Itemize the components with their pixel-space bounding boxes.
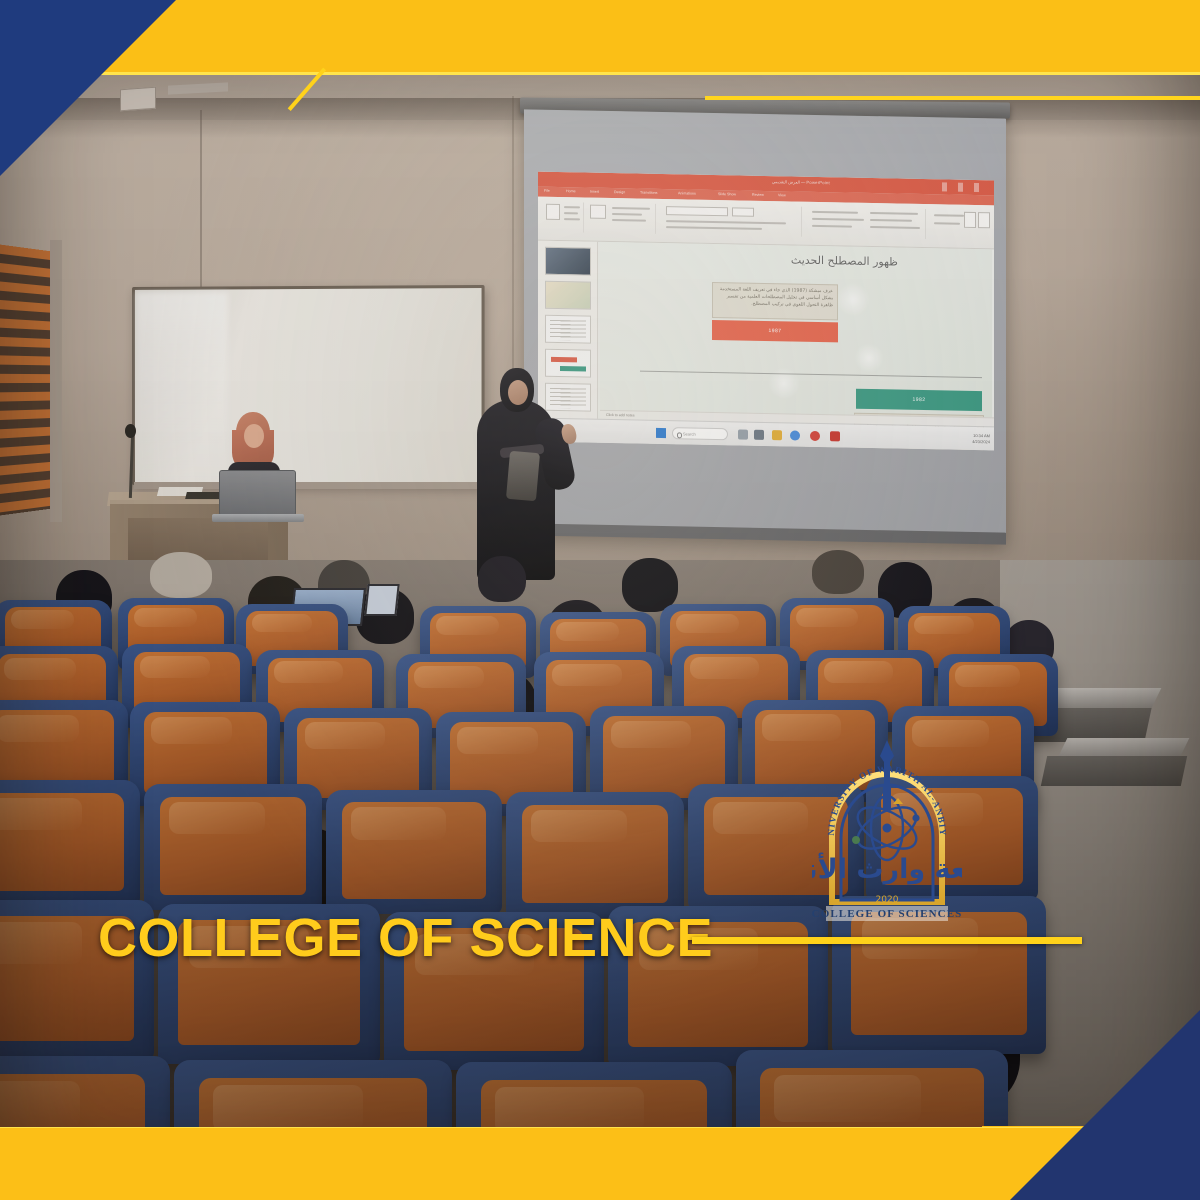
tab-review[interactable]: Review xyxy=(752,193,764,197)
crest-footer-text: COLLEGE OF SCIENCES xyxy=(812,908,962,920)
seminar-photo-card: العرض التقديمي — PowerPoint File Home In… xyxy=(0,0,1200,1200)
seat xyxy=(144,784,322,910)
ribbon-group-export[interactable] xyxy=(962,210,992,241)
paste-button[interactable] xyxy=(546,204,560,220)
microphone-head xyxy=(125,424,136,438)
presenter-bag xyxy=(506,451,540,501)
share-button[interactable] xyxy=(978,212,990,228)
clock-time: 10:34 AM xyxy=(973,433,990,438)
tab-design[interactable]: Design xyxy=(614,190,625,194)
window-title-text: العرض التقديمي — PowerPoint xyxy=(772,179,830,185)
slide-left-paragraph: عرف ميشكة (1987) الذي جاء في تعريف اللغة… xyxy=(712,282,838,320)
taskbar-clock[interactable]: 10:34 AM 4/23/2024 xyxy=(972,433,990,445)
seat xyxy=(506,792,684,918)
create-pdf-button[interactable] xyxy=(964,212,976,228)
university-crest-icon: UNIVERSITY OF WARITH AL-ANBIYA جامعة وار… xyxy=(812,732,962,928)
font-size-select[interactable] xyxy=(732,207,754,216)
tab-transitions[interactable]: Transitions xyxy=(640,191,657,195)
diagonal-accent-rule xyxy=(322,70,366,110)
ribbon-group-clipboard[interactable] xyxy=(542,202,584,233)
seat xyxy=(326,790,502,914)
slide-divider xyxy=(640,371,982,379)
tab-insert[interactable]: Insert xyxy=(590,190,599,194)
pdf-icon[interactable] xyxy=(830,431,840,441)
window-controls[interactable] xyxy=(942,182,990,192)
seated-person-face xyxy=(244,424,264,448)
crest-arc-text: UNIVERSITY OF WARITH AL-ANBIYA xyxy=(812,732,948,836)
title-underline-rule xyxy=(692,937,1082,944)
tab-file[interactable]: File xyxy=(544,189,550,193)
page-title: COLLEGE OF SCIENCE xyxy=(98,911,713,965)
audience-head xyxy=(150,552,212,598)
slide-thumbnail-4[interactable] xyxy=(545,349,591,378)
laptop-screen xyxy=(219,470,296,516)
slide-thumbnail-5[interactable] xyxy=(545,383,591,412)
slide-thumbnail-2[interactable] xyxy=(545,281,591,310)
window-blinds xyxy=(0,244,55,516)
atom-electron xyxy=(912,814,919,821)
slide-thumbnail-3[interactable] xyxy=(545,315,591,344)
ribbon-group-font[interactable] xyxy=(660,204,802,237)
tab-view[interactable]: View xyxy=(778,193,786,197)
atom-electron xyxy=(852,836,860,844)
slide-badge-1982: 1982 xyxy=(856,389,982,411)
chrome-icon[interactable] xyxy=(790,430,800,440)
tab-home[interactable]: Home xyxy=(566,189,576,193)
laptop-base xyxy=(212,514,304,522)
new-slide-button[interactable] xyxy=(590,205,606,219)
ceiling-fixture-icon xyxy=(120,87,156,112)
slide-thumbnail-1[interactable] xyxy=(545,247,591,276)
ribbon-group-slides[interactable] xyxy=(586,203,656,234)
active-slide[interactable]: ظهور المصطلح الحديث عرف ميشكة (1987) الذ… xyxy=(600,242,992,427)
slide-title: ظهور المصطلح الحديث xyxy=(791,253,898,268)
powerpoint-window: العرض التقديمي — PowerPoint File Home In… xyxy=(538,172,994,451)
whiteboard-glare xyxy=(136,292,228,480)
crest-finial-icon xyxy=(880,740,894,786)
window-frame xyxy=(50,240,62,522)
event-photograph: العرض التقديمي — PowerPoint File Home In… xyxy=(0,0,1200,1200)
university-logo: UNIVERSITY OF WARITH AL-ANBIYA جامعة وار… xyxy=(812,732,962,928)
start-icon[interactable] xyxy=(656,428,666,438)
task-view-icon[interactable] xyxy=(738,429,748,439)
ribbon-group-paragraph[interactable] xyxy=(806,207,926,239)
crest-arabic-name: جامعة وارث الأنبياء xyxy=(812,852,962,885)
font-family-select[interactable] xyxy=(666,206,728,216)
clock-date: 4/23/2024 xyxy=(972,439,990,444)
file-explorer-icon[interactable] xyxy=(772,430,782,440)
top-yellow-band xyxy=(0,0,1200,74)
slide-thumbnail-panel[interactable] xyxy=(538,241,598,419)
bottom-yellow-band xyxy=(0,1128,1200,1200)
tab-slideshow[interactable]: Slide Show xyxy=(718,192,736,196)
step-lower-riser xyxy=(1041,756,1187,786)
dark-item-on-podium xyxy=(185,492,221,499)
widgets-icon[interactable] xyxy=(754,430,764,440)
audience-tablet xyxy=(364,584,399,616)
search-input[interactable]: Search xyxy=(672,427,728,440)
presenter-face xyxy=(508,380,528,405)
seat xyxy=(0,780,140,906)
tab-animations[interactable]: Animations xyxy=(678,191,696,195)
top-band-edge-line xyxy=(0,72,1200,75)
atom-nucleus xyxy=(883,824,892,833)
audience-head xyxy=(478,556,526,602)
notes-placeholder: Click to add notes xyxy=(606,412,635,417)
slide-badge-1987: 1987 xyxy=(712,320,838,342)
crest-year: 2020 xyxy=(876,895,899,905)
record-icon[interactable] xyxy=(810,431,820,441)
horizontal-accent-rule xyxy=(705,96,1200,100)
audience-head xyxy=(812,550,864,594)
